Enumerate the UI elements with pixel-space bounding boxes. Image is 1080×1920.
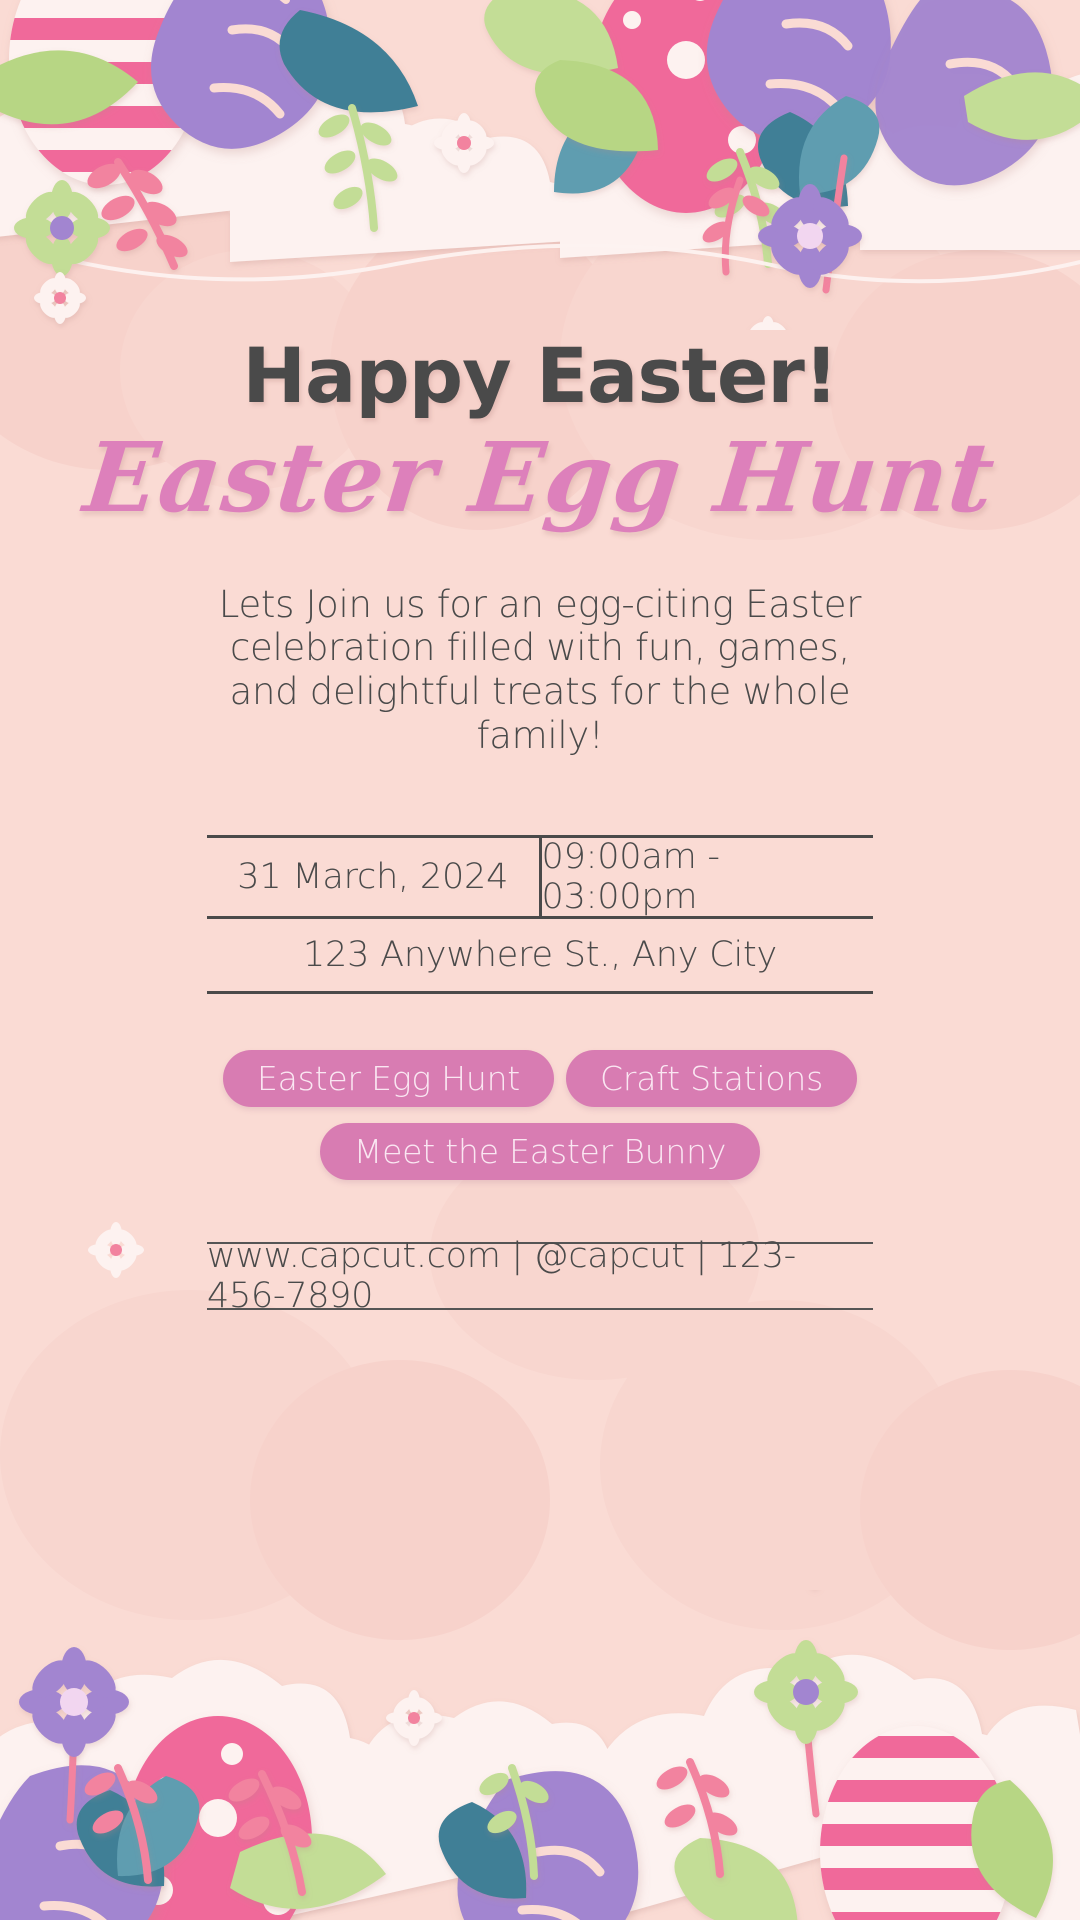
activities-row-1: Easter Egg Hunt Craft Stations — [223, 1050, 857, 1107]
event-details-block: 31 March, 2024 09:00am - 03:00pm 123 Any… — [207, 835, 873, 994]
script-title: Easter Egg Hunt — [80, 428, 1000, 529]
page-title: Happy Easter! — [242, 338, 837, 414]
intro-paragraph: Lets Join us for an egg-citing Easter ce… — [190, 583, 890, 758]
event-address: 123 Anywhere St., Any City — [207, 919, 873, 991]
footer-contact[interactable]: www.capcut.com | @capcut | 123-456-7890 — [207, 1244, 873, 1308]
date-time-row: 31 March, 2024 09:00am - 03:00pm — [207, 838, 873, 916]
activities-row-2: Meet the Easter Bunny — [320, 1123, 760, 1180]
activity-pill-meet-the-easter-bunny[interactable]: Meet the Easter Bunny — [320, 1123, 760, 1180]
easter-invitation-poster: Happy Easter! Easter Egg Hunt Lets Join … — [0, 0, 1080, 1920]
daisy-icon-footer-left — [88, 1222, 144, 1278]
poster-content: Happy Easter! Easter Egg Hunt Lets Join … — [0, 0, 1080, 1920]
event-date: 31 March, 2024 — [207, 838, 539, 916]
activity-pill-easter-egg-hunt[interactable]: Easter Egg Hunt — [223, 1050, 554, 1107]
event-time: 09:00am - 03:00pm — [539, 838, 874, 916]
details-bottom-rule — [207, 991, 873, 994]
activities-list: Easter Egg Hunt Craft Stations Meet the … — [190, 1050, 890, 1180]
activity-pill-craft-stations[interactable]: Craft Stations — [566, 1050, 857, 1107]
footer-block: www.capcut.com | @capcut | 123-456-7890 — [207, 1242, 873, 1310]
